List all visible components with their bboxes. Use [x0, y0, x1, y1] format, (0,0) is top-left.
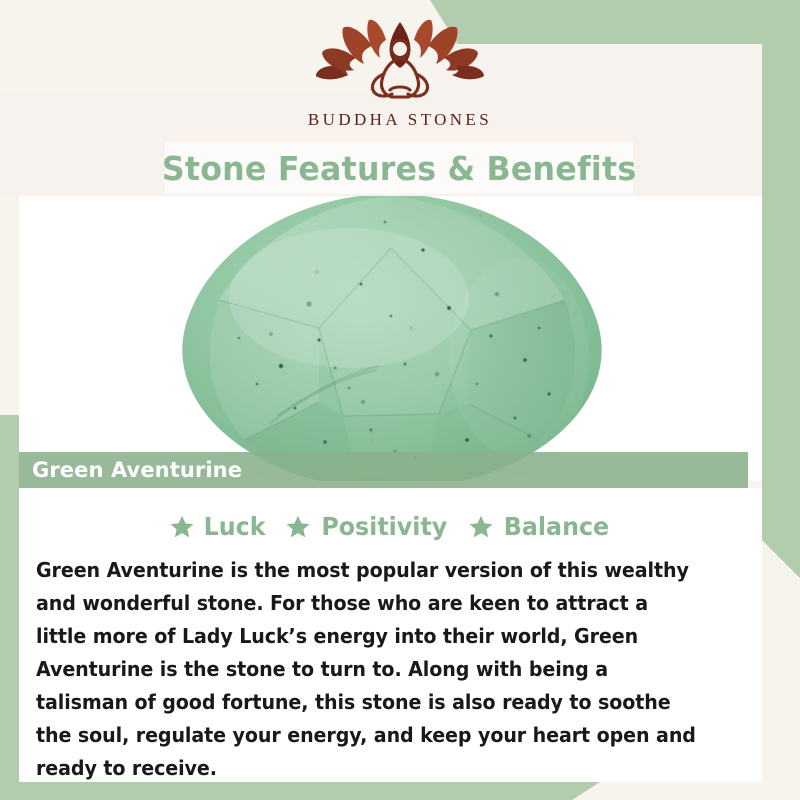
- content-area: Luck Positivity Balance Green Aventurine…: [19, 488, 762, 782]
- benefit-item-balance: Balance: [468, 512, 612, 541]
- star-icon: [468, 514, 494, 540]
- frame-left-green-band: [0, 415, 19, 800]
- star-icon: [169, 514, 195, 540]
- stone-description: Green Aventurine is the most popular ver…: [36, 554, 704, 785]
- brand-logo: BUDDHA STONES: [0, 18, 800, 130]
- page-title: Stone Features & Benefits: [162, 149, 636, 188]
- star-icon: [285, 514, 311, 540]
- stone-name-label: Green Aventurine: [32, 458, 242, 482]
- benefit-label-positivity: Positivity: [321, 512, 447, 541]
- benefit-label-luck: Luck: [203, 512, 265, 541]
- lotus-meditation-icon: [310, 18, 490, 106]
- benefit-item-luck: Luck: [169, 512, 267, 541]
- stone-name-bar: Green Aventurine: [19, 452, 748, 488]
- benefits-row: Luck Positivity Balance: [19, 512, 762, 541]
- benefit-label-balance: Balance: [504, 512, 609, 541]
- green-aventurine-stone-image: [19, 196, 762, 481]
- poster-root: BUDDHA STONES Stone Features & Benefits: [0, 0, 800, 800]
- benefit-item-positivity: Positivity: [285, 512, 451, 541]
- title-banner: Stone Features & Benefits: [165, 142, 633, 194]
- brand-name: BUDDHA STONES: [308, 110, 492, 130]
- stone-photo: [19, 196, 762, 481]
